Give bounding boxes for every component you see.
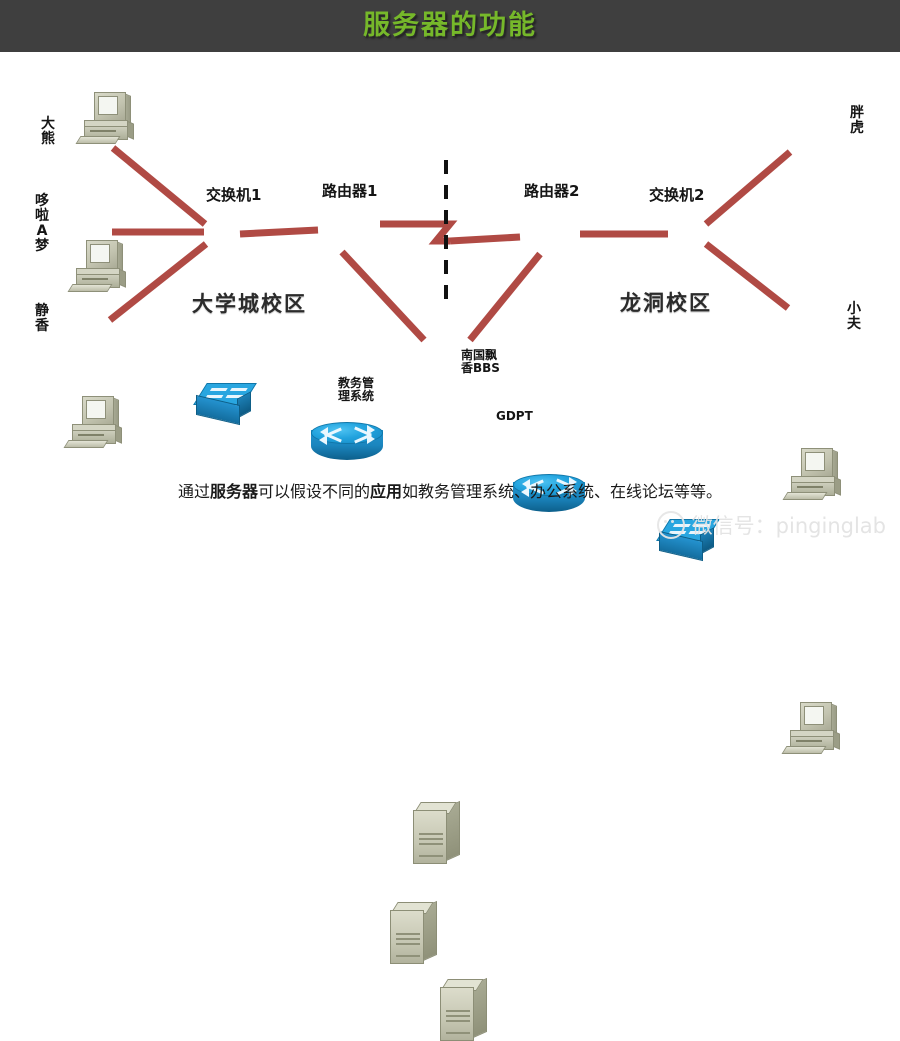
- server-front-icon: [390, 910, 424, 964]
- link-router1-servers: [342, 252, 424, 340]
- server-front-icon: [413, 810, 447, 864]
- drive-slot-icon: [82, 278, 108, 280]
- switch-2-label: 交换机2: [649, 184, 704, 205]
- link-daxiong-switch1: [113, 148, 205, 224]
- router-top-icon: [311, 422, 383, 444]
- monitor-screen-icon: [86, 400, 106, 419]
- keyboard-icon: [76, 136, 121, 144]
- monitor-screen-icon: [90, 244, 110, 263]
- server-gdpt-label: GDPT: [496, 410, 533, 423]
- switch-1-label: 交换机1: [206, 184, 261, 205]
- server-jwgl-label: 教务管 理系统: [338, 377, 374, 403]
- caption-bold-2: 应用: [370, 482, 402, 501]
- host-xiaofu-label: 小 夫: [846, 302, 862, 332]
- router-2-label: 路由器2: [524, 180, 579, 201]
- drive-slot-icon: [796, 740, 822, 742]
- host-doraemon-label: 哆 啦 A 梦: [34, 194, 50, 254]
- router-1[interactable]: [311, 422, 383, 468]
- keyboard-icon: [782, 746, 827, 754]
- caption-part-2: 可以假设不同的: [258, 482, 370, 501]
- host-panghu-label: 胖 虎: [849, 106, 865, 136]
- page-title: 服务器的功能: [0, 0, 900, 52]
- server-gdpt[interactable]: [440, 979, 490, 1041]
- link-switch2-panghu: [706, 152, 790, 224]
- caption-text: 通过服务器可以假设不同的应用如教务管理系统、办公系统、在线论坛等等。: [0, 478, 900, 502]
- link-switch1-router1: [240, 230, 318, 234]
- server-jwgl[interactable]: [390, 902, 440, 964]
- caption-part-1: 通过: [178, 482, 210, 501]
- router-1-label: 路由器1: [322, 180, 377, 201]
- monitor-screen-icon: [805, 452, 825, 471]
- watermark-label: 微信号：pinginglab: [692, 510, 886, 540]
- area-daxuecheng-label: 大学城校区: [192, 288, 307, 318]
- link-wan-router2: [450, 237, 520, 241]
- caption-part-3: 如教务管理系统、办公系统、在线论坛等等。: [402, 482, 722, 501]
- host-daxiong-label: 大 熊: [40, 117, 56, 147]
- monitor-screen-icon: [98, 96, 118, 115]
- host-xiaofu[interactable]: [784, 702, 846, 760]
- host-jinxiang[interactable]: [66, 396, 128, 454]
- drive-slot-icon: [90, 130, 116, 132]
- wechat-smiley-icon: [657, 511, 685, 539]
- keyboard-icon: [68, 284, 113, 292]
- switch-1[interactable]: [196, 383, 258, 427]
- host-doraemon[interactable]: [70, 240, 132, 298]
- caption-bold-1: 服务器: [210, 482, 258, 501]
- keyboard-icon: [64, 440, 109, 448]
- header-bar: 服务器的功能: [0, 0, 900, 52]
- host-daxiong[interactable]: [78, 92, 140, 150]
- server-bbs[interactable]: [413, 802, 463, 864]
- watermark: 微信号：pinginglab: [657, 510, 886, 540]
- link-router2-servers: [470, 254, 540, 340]
- server-bbs-label: 南国飘 香BBS: [461, 349, 500, 375]
- monitor-screen-icon: [804, 706, 824, 725]
- host-jinxiang-label: 静 香: [34, 304, 50, 334]
- drive-slot-icon: [78, 434, 104, 436]
- area-longdong-label: 龙洞校区: [620, 287, 712, 317]
- server-front-icon: [440, 987, 474, 1041]
- link-switch2-xiaofu: [706, 244, 788, 308]
